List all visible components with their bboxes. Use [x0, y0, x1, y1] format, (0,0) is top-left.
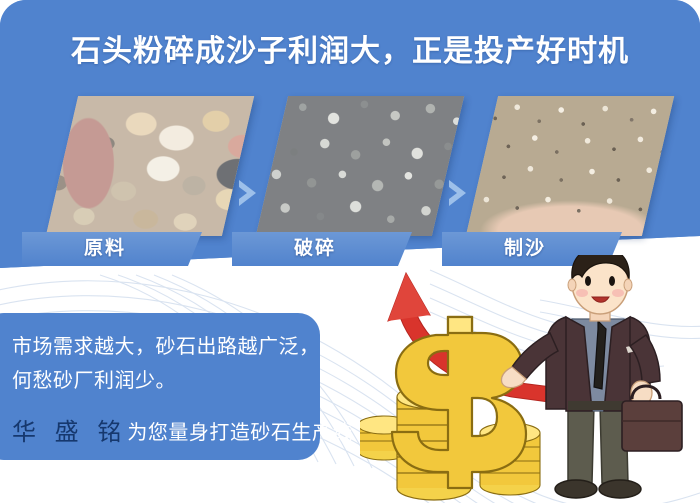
illustration-group: $ [360, 255, 700, 503]
stage-label-raw-material: 原料 [22, 232, 202, 266]
river-pebbles-photo [46, 96, 254, 236]
promo-banner: 石头粉碎成沙子利润大，正是投产好时机 原料 破碎 制沙 [0, 0, 700, 503]
crushed-gravel-photo [256, 96, 464, 236]
tagline-text: 为您量身打造砂石生产线 [127, 422, 353, 444]
chevron-right-icon [236, 178, 262, 208]
promo-line-2: 何愁砂厂利润少。 [12, 364, 176, 393]
chevron-right-icon [446, 178, 472, 208]
stage-label-text: 原料 [22, 232, 188, 266]
dollar-sign-icon [392, 317, 526, 488]
stage-photo-sand-making [466, 96, 674, 236]
stage-photo-crushing [256, 96, 464, 236]
page-title: 石头粉碎成沙子利润大，正是投产好时机 [0, 26, 700, 70]
stage-photo-raw-material [46, 96, 254, 236]
promo-line-1: 市场需求越大，砂石出路越广泛， [12, 330, 320, 359]
manufactured-sand-photo [466, 96, 674, 236]
promo-text-card: 市场需求越大，砂石出路越广泛， 何愁砂厂利润少。 华 盛 铭为您量身打造砂石生产… [0, 313, 320, 460]
brand-name: 华 盛 铭 [12, 419, 127, 446]
brand-tagline: 华 盛 铭为您量身打造砂石生产线 [12, 412, 353, 447]
